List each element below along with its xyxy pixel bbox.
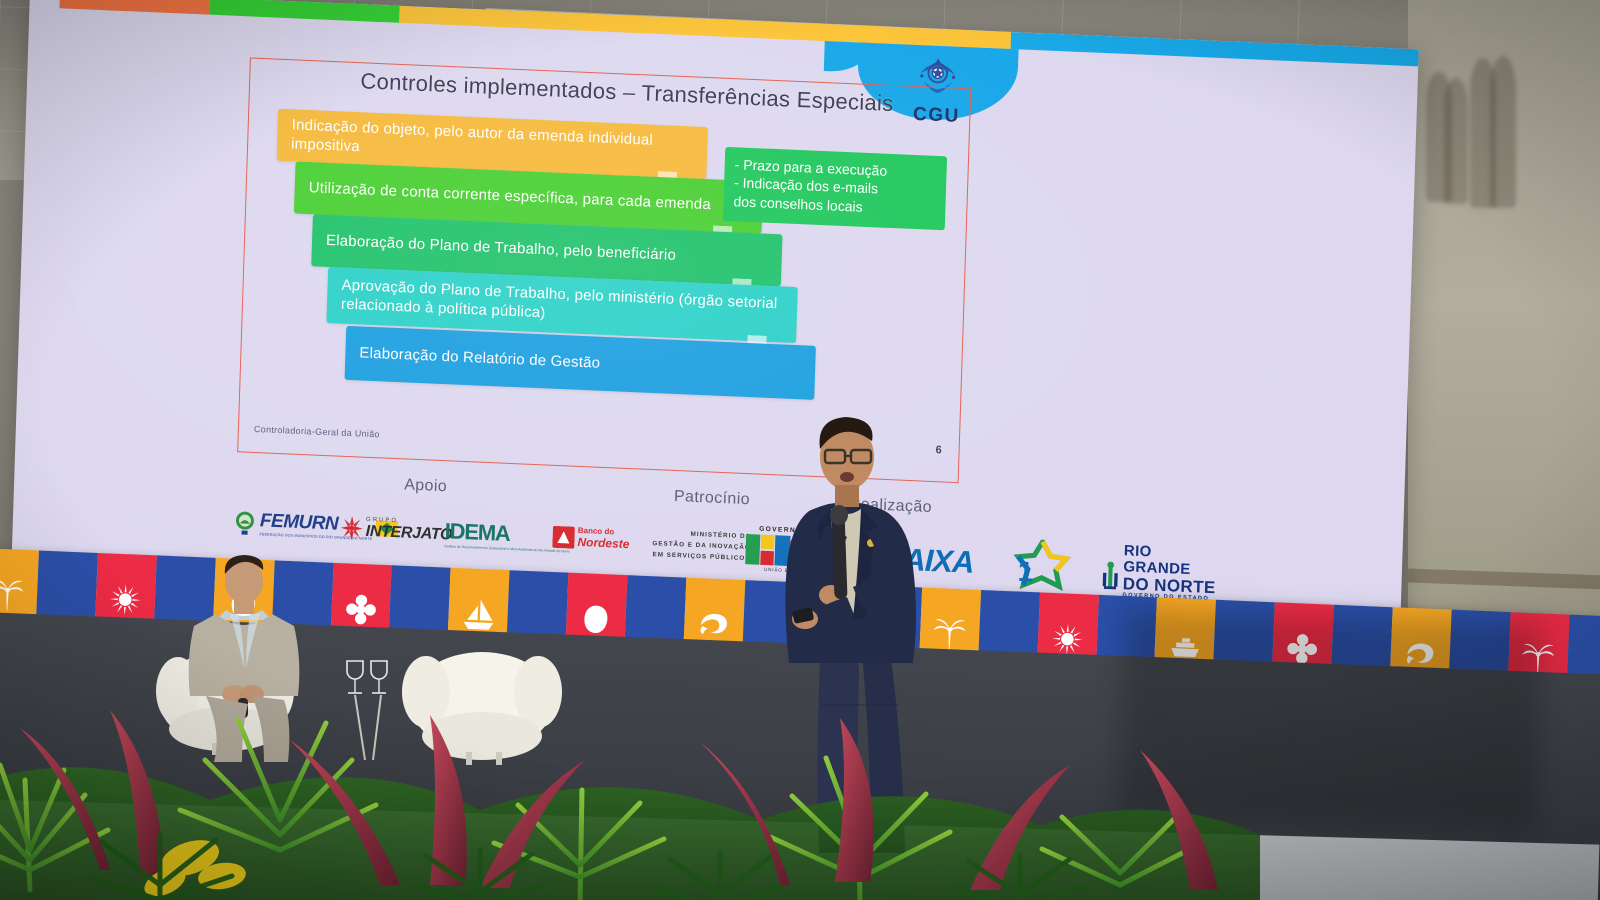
interjato-wordmark: INTERJATO bbox=[365, 523, 452, 545]
photo-scene: CGU Controles implementados – Transferên… bbox=[0, 0, 1600, 900]
interjato-grupo-label: GRUPO bbox=[366, 517, 453, 527]
logo-event-star: 1 bbox=[1011, 538, 1073, 597]
banco-do-nordeste-mark-icon bbox=[552, 525, 575, 548]
idema-subtitle: Instituto de Desenvolvimento Sustentável… bbox=[444, 544, 569, 554]
logo-idema: IDEMA Instituto de Desenvolvimento Suste… bbox=[444, 518, 570, 554]
rn-line2: DO NORTE bbox=[1123, 575, 1222, 597]
logo-banco-do-nordeste: Banco do Nordeste bbox=[552, 525, 630, 551]
idema-wordmark: IDEMA bbox=[444, 518, 570, 549]
ceiling-vent-icon bbox=[29, 59, 150, 95]
flow-step-4-label: Aprovação do Plano de Trabalho, pelo min… bbox=[341, 277, 784, 333]
femurn-seal-icon bbox=[233, 509, 258, 536]
wall-shadow-figure bbox=[1490, 56, 1516, 208]
sponsor-labels: Apoio Patrocínio Realização bbox=[14, 460, 1404, 547]
femurn-subtitle: FEDERAÇÃO DOS MUNICÍPIOS DO RIO GRANDE D… bbox=[259, 532, 372, 541]
sponsor-label-apoio: Apoio bbox=[404, 476, 447, 496]
rn-monument-icon bbox=[1101, 553, 1120, 598]
flow-step-4: Aprovação do Plano de Trabalho, pelo min… bbox=[326, 267, 797, 343]
flow-step-3-label: Elaboração do Plano de Trabalho, pelo be… bbox=[326, 232, 677, 266]
femurn-flag-icon bbox=[375, 518, 398, 539]
down-arrow-icon bbox=[724, 278, 759, 301]
ceiling-panel-reflection-2 bbox=[289, 3, 391, 53]
svg-text:1: 1 bbox=[1017, 556, 1034, 588]
interjato-star-icon bbox=[340, 516, 363, 541]
flow-step-5: Elaboração do Relatório de Gestão bbox=[345, 326, 816, 400]
foreground-plants bbox=[0, 620, 1260, 900]
ceiling-vent-icon bbox=[602, 60, 723, 96]
flow-step-5-label: Elaboração do Relatório de Gestão bbox=[359, 344, 600, 373]
bnb-line1: Banco do bbox=[578, 526, 630, 537]
rn-line1: RIO GRANDE bbox=[1123, 543, 1223, 579]
slide-footer: Controladoria-Geral da União bbox=[254, 424, 380, 439]
logo-interjato: GRUPO INTERJATO bbox=[340, 516, 452, 545]
femurn-wordmark: FEMURN bbox=[260, 510, 374, 537]
bnb-line2: Nordeste bbox=[577, 535, 629, 551]
event-star-icon: 1 bbox=[1011, 538, 1073, 597]
logo-femurn: FEMURN FEDERAÇÃO DOS MUNICÍPIOS DO RIO G… bbox=[233, 509, 399, 542]
wall-shadow-figure bbox=[1444, 78, 1468, 204]
down-arrow-icon bbox=[740, 335, 775, 358]
